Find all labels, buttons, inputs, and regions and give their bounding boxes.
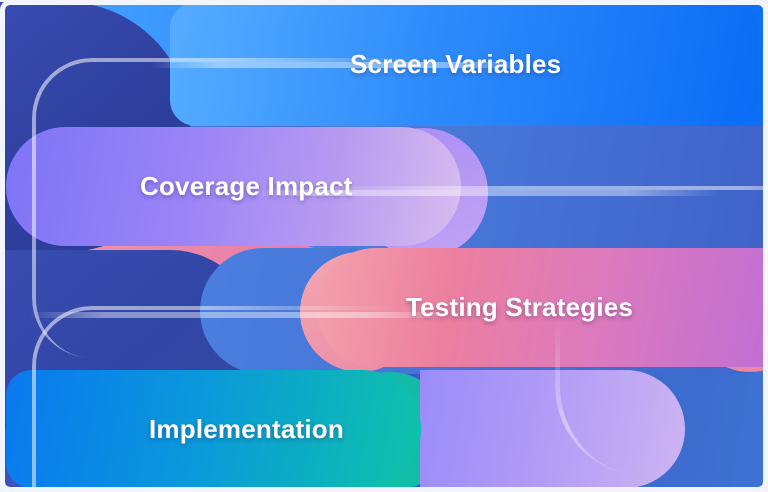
infographic-canvas: Screen Variables Testing Strategies Cove… — [0, 0, 768, 492]
pill-testing-strategies[interactable]: Testing Strategies — [316, 248, 768, 367]
pill-label-coverage-impact: Coverage Impact — [140, 171, 353, 202]
pill-label-implementation: Implementation — [149, 414, 344, 445]
pill-coverage-impact[interactable]: Coverage Impact — [6, 127, 461, 246]
pill-screen-variables[interactable]: Screen Variables — [170, 2, 758, 126]
pill-label-screen-variables: Screen Variables — [350, 49, 561, 80]
pill-implementation[interactable]: Implementation — [6, 370, 421, 488]
pill-accent-purple[interactable] — [420, 370, 685, 488]
pill-label-testing-strategies: Testing Strategies — [406, 292, 633, 323]
